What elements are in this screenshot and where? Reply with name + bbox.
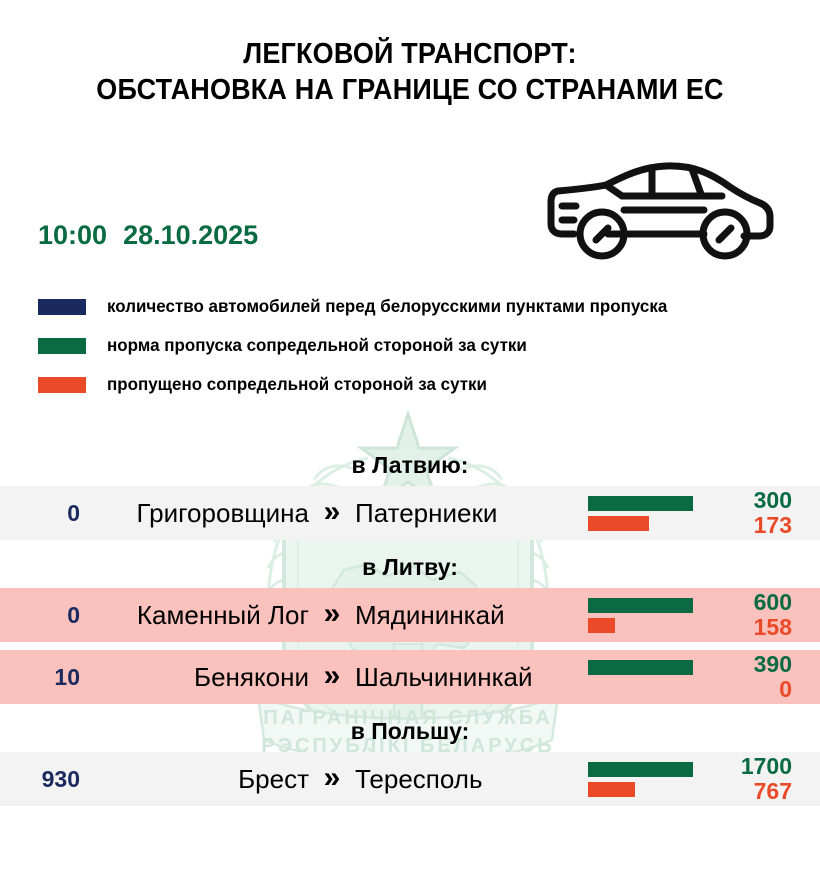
timestamp-time: 10:00 (38, 220, 107, 250)
bar-group (588, 660, 700, 695)
value-norm: 390 (700, 652, 792, 677)
table-row: 10Бенякони»Шальчининкай3900 (0, 650, 820, 704)
bar-norm (588, 496, 693, 511)
double-chevron-icon: » (309, 599, 355, 632)
route: Григоровщина»Патерниеки (82, 497, 582, 530)
table-row: 930Брест»Тересполь1700767 (0, 752, 820, 806)
legend: количество автомобилей перед белорусским… (38, 291, 798, 408)
bar-norm (588, 660, 693, 675)
bar-group (588, 496, 700, 531)
legend-item-label: количество автомобилей перед белорусским… (107, 296, 667, 317)
checkpoint-neighbour: Мядининкай (355, 600, 575, 631)
checkpoint-belarus: Каменный Лог (89, 600, 309, 631)
checkpoint-neighbour: Шальчининкай (355, 662, 575, 693)
bar-passed (588, 516, 649, 531)
border-section: в Польшу:930Брест»Тересполь1700767 (0, 712, 820, 806)
bar-norm (588, 762, 693, 777)
bar-group (588, 598, 700, 633)
page-title-line-2: ОБСТАНОВКА НА ГРАНИЦЕ СО СТРАНАМИ ЕС (29, 72, 792, 108)
value-passed: 767 (700, 779, 792, 804)
queue-count: 0 (0, 500, 82, 527)
legend-item: норма пропуска сопредельной стороной за … (38, 330, 798, 361)
bar-group (588, 762, 700, 797)
legend-item-label: норма пропуска сопредельной стороной за … (107, 335, 527, 356)
route: Бенякони»Шальчининкай (82, 661, 582, 694)
queue-count: 10 (0, 664, 82, 691)
value-norm: 1700 (700, 754, 792, 779)
value-group: 300173 (700, 488, 820, 538)
route: Каменный Лог»Мядининкай (82, 599, 582, 632)
checkpoint-belarus: Брест (89, 764, 309, 795)
legend-item: количество автомобилей перед белорусским… (38, 291, 798, 322)
timestamp: 10:0028.10.2025 (38, 219, 258, 251)
table-row: 0Каменный Лог»Мядининкай600158 (0, 588, 820, 642)
legend-item-label: пропущено сопредельной стороной за сутки (107, 374, 487, 395)
value-passed: 158 (700, 615, 792, 640)
table-row: 0Григоровщина»Патерниеки300173 (0, 486, 820, 540)
checkpoint-belarus: Григоровщина (89, 498, 309, 529)
value-group: 3900 (700, 652, 820, 702)
checkpoint-neighbour: Тересполь (355, 764, 575, 795)
bar-passed (588, 782, 635, 797)
value-norm: 300 (700, 488, 792, 513)
checkpoint-neighbour: Патерниеки (355, 498, 575, 529)
timestamp-date: 28.10.2025 (123, 220, 258, 250)
value-passed: 173 (700, 513, 792, 538)
section-title: в Польшу: (0, 712, 820, 752)
section-title: в Латвию: (0, 446, 820, 486)
double-chevron-icon: » (309, 763, 355, 796)
double-chevron-icon: » (309, 497, 355, 530)
border-section: в Литву:0Каменный Лог»Мядининкай60015810… (0, 548, 820, 704)
car-icon (544, 158, 776, 266)
value-passed: 0 (700, 677, 792, 702)
double-chevron-icon: » (309, 661, 355, 694)
legend-item: пропущено сопредельной стороной за сутки (38, 369, 798, 400)
page-title: ЛЕГКОВОЙ ТРАНСПОРТ: ОБСТАНОВКА НА ГРАНИЦ… (0, 36, 820, 108)
value-norm: 600 (700, 590, 792, 615)
legend-color-swatch (38, 338, 86, 354)
queue-count: 930 (0, 766, 82, 793)
value-group: 600158 (700, 590, 820, 640)
checkpoint-belarus: Бенякони (89, 662, 309, 693)
bar-passed (588, 618, 615, 633)
value-group: 1700767 (700, 754, 820, 804)
border-section: в Латвию:0Григоровщина»Патерниеки300173 (0, 446, 820, 540)
section-title: в Литву: (0, 548, 820, 588)
route: Брест»Тересполь (82, 763, 582, 796)
border-crossing-table: в Латвию:0Григоровщина»Патерниеки300173в… (0, 446, 820, 814)
page-title-line-1: ЛЕГКОВОЙ ТРАНСПОРТ: (29, 36, 792, 72)
legend-color-swatch (38, 299, 86, 315)
legend-color-swatch (38, 377, 86, 393)
queue-count: 0 (0, 602, 82, 629)
bar-norm (588, 598, 693, 613)
